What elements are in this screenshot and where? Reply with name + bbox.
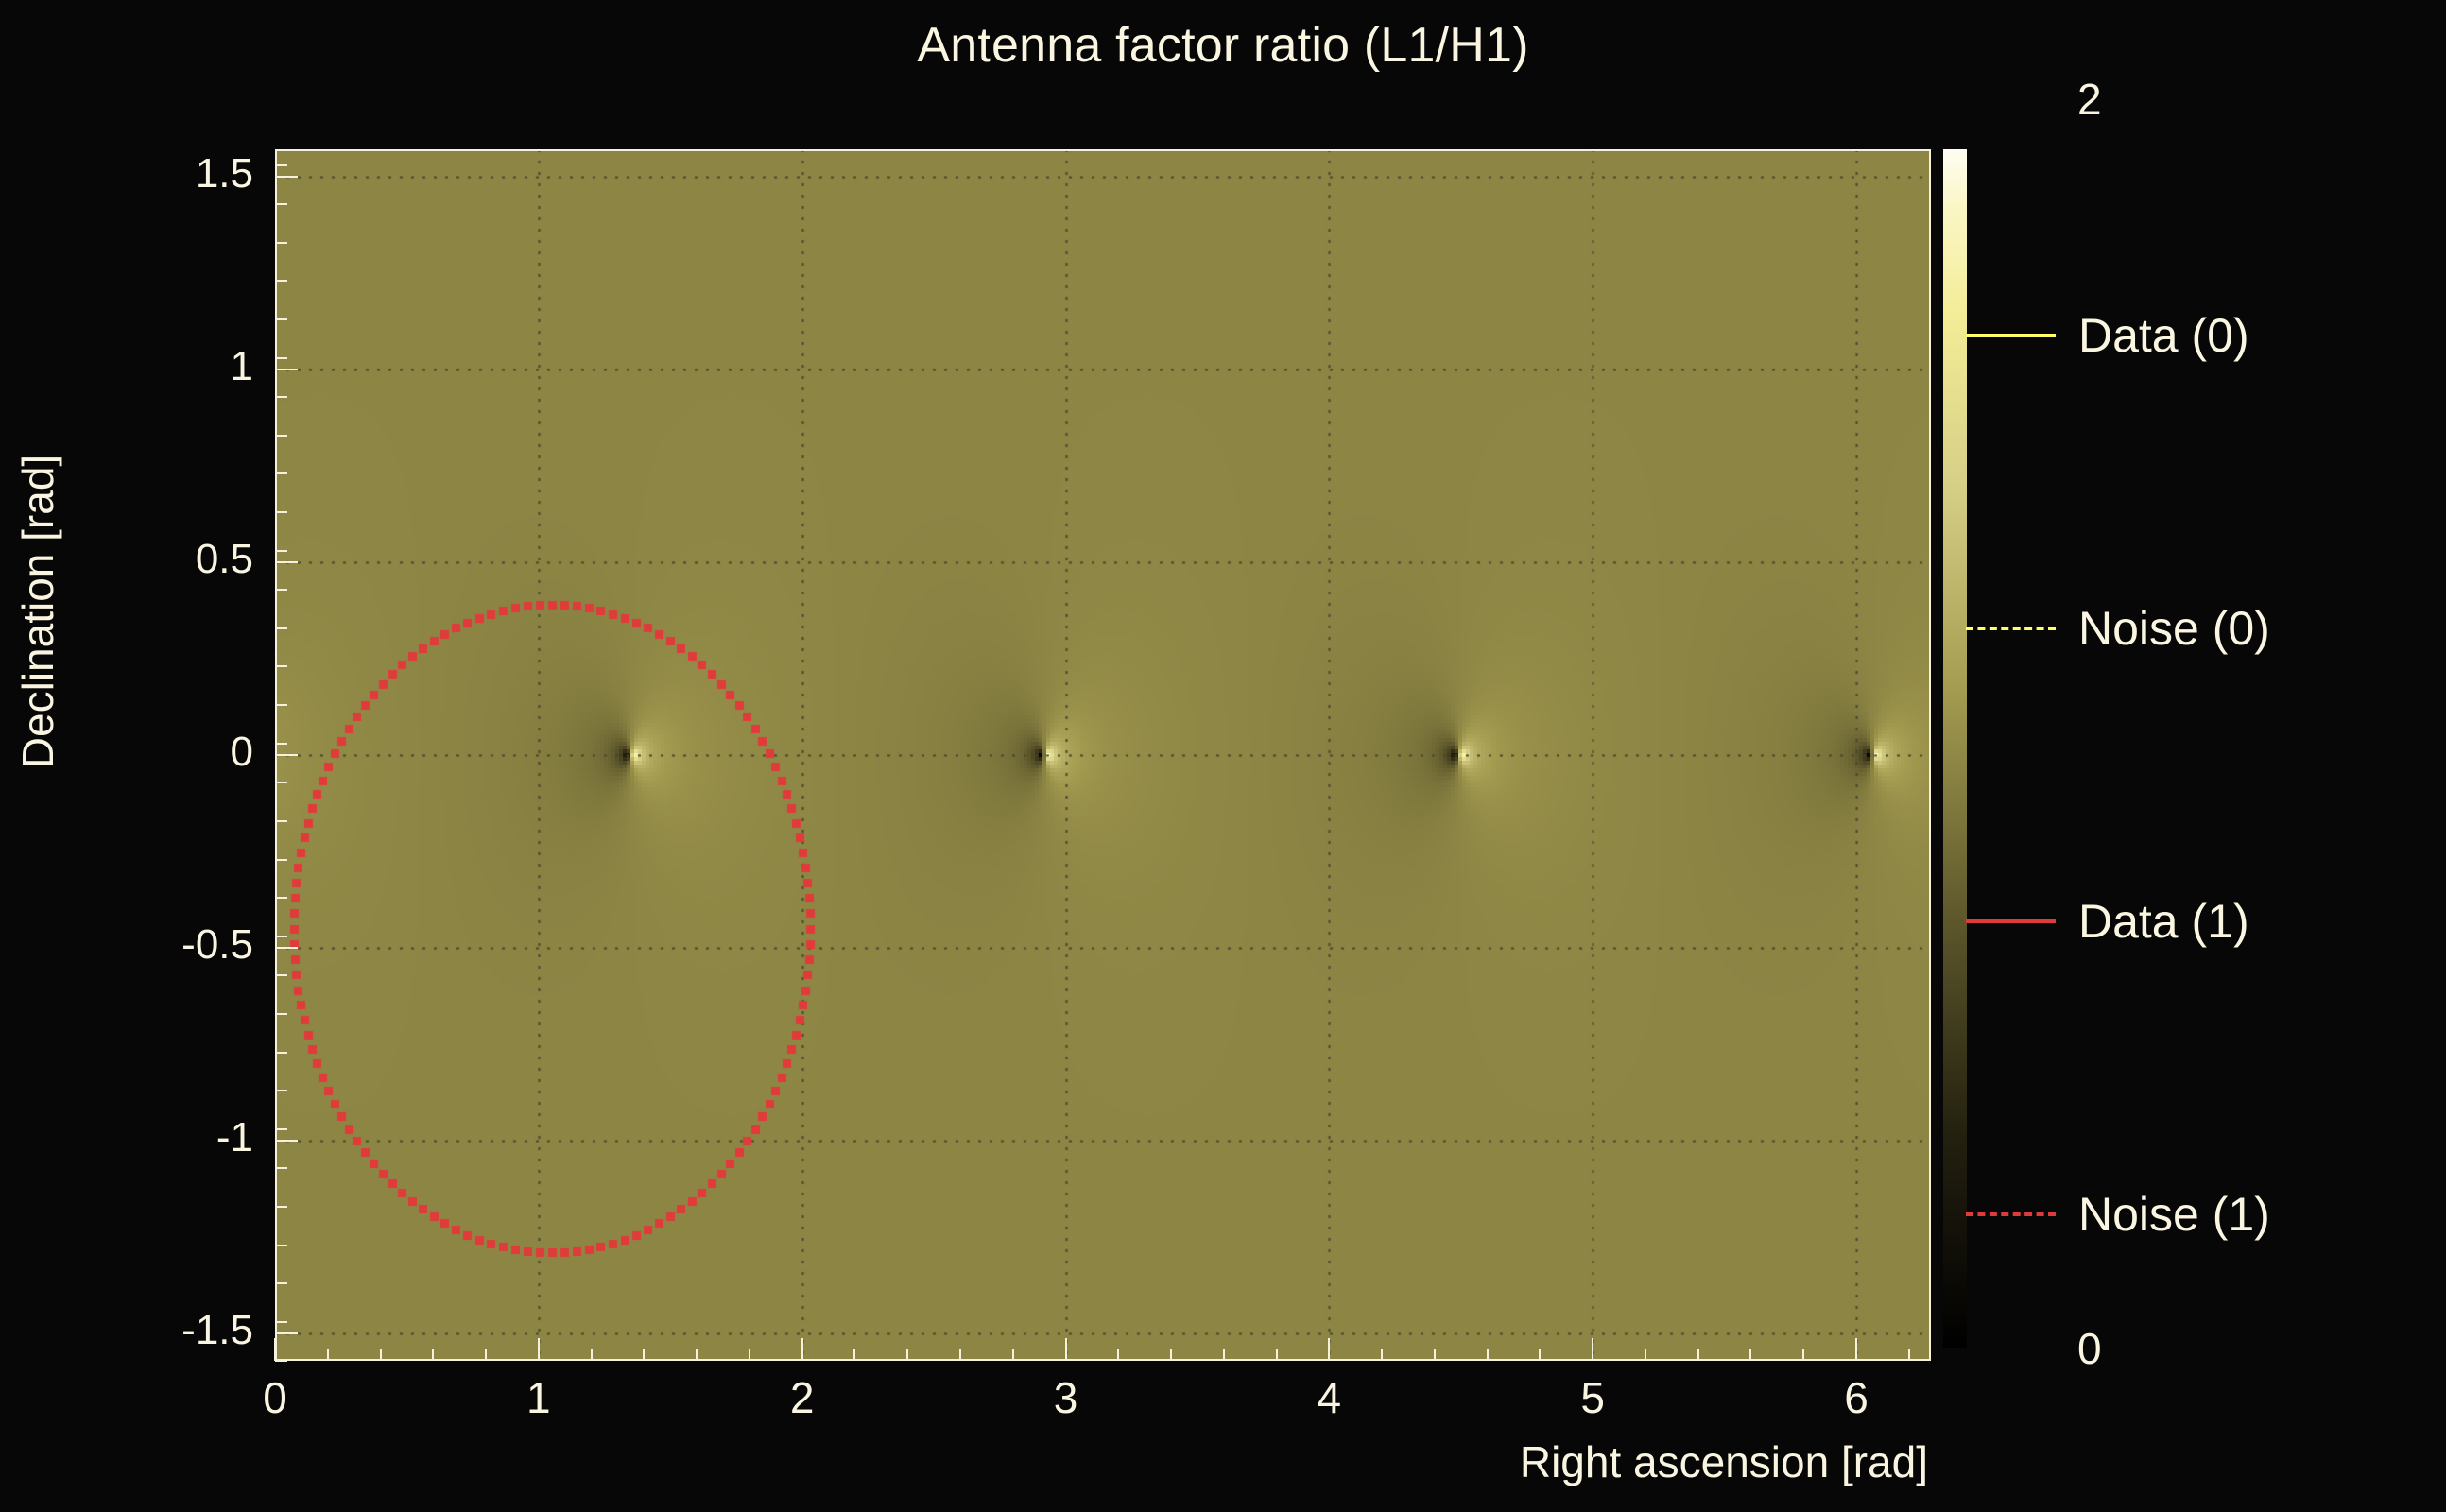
y-tick-minor	[275, 511, 287, 513]
y-tick-minor	[275, 1206, 287, 1208]
y-tick-minor	[275, 820, 287, 822]
y-tick-minor	[275, 164, 287, 166]
y-tick-major	[275, 1332, 298, 1334]
y-tick-label: -1	[0, 1114, 253, 1161]
x-tick-major	[1328, 1338, 1330, 1361]
x-tick-minor	[1276, 1349, 1278, 1361]
x-tick-minor	[749, 1349, 750, 1361]
x-tick-minor	[1908, 1349, 1910, 1361]
y-tick-minor	[275, 550, 287, 552]
legend[interactable]: Data (0)Noise (0)Data (1)Noise (1)	[1966, 161, 2438, 1342]
figure-canvas: Antenna factor ratio (L1/H1) -1.5-1-0.50…	[0, 0, 2446, 1512]
x-tick-minor	[1539, 1349, 1541, 1361]
x-tick-major	[1855, 1338, 1857, 1361]
x-tick-label: 6	[1844, 1372, 1869, 1423]
x-tick-minor	[1434, 1349, 1436, 1361]
y-tick-minor	[275, 589, 287, 591]
plot-area[interactable]	[275, 149, 1931, 1361]
x-tick-major	[1065, 1338, 1067, 1361]
y-tick-major	[275, 754, 298, 756]
x-tick-minor	[1645, 1349, 1646, 1361]
y-tick-minor	[275, 743, 287, 745]
x-tick-label: 5	[1580, 1372, 1605, 1423]
x-tick-major	[538, 1338, 540, 1361]
y-tick-minor	[275, 1013, 287, 1015]
y-tick-minor	[275, 1245, 287, 1246]
y-tick-minor	[275, 782, 287, 783]
legend-item[interactable]: Data (1)	[1966, 879, 2438, 964]
x-tick-minor	[1697, 1349, 1699, 1361]
legend-item[interactable]: Noise (1)	[1966, 1172, 2438, 1257]
x-axis-title: Right ascension [rad]	[1059, 1436, 1928, 1487]
y-tick-minor	[275, 318, 287, 320]
x-tick-minor	[1381, 1349, 1383, 1361]
x-tick-label: 0	[263, 1372, 287, 1423]
y-tick-minor	[275, 665, 287, 667]
y-tick-minor	[275, 1167, 287, 1169]
colorbar-max-label: 2	[2077, 74, 2102, 125]
x-tick-minor	[696, 1349, 698, 1361]
x-tick-minor	[380, 1349, 382, 1361]
x-tick-minor	[1117, 1349, 1119, 1361]
legend-line-swatch	[1966, 627, 2056, 630]
x-tick-major	[801, 1338, 803, 1361]
y-tick-minor	[275, 704, 287, 706]
x-tick-minor	[853, 1349, 855, 1361]
y-tick-label: 1	[0, 343, 253, 390]
y-tick-minor	[275, 1282, 287, 1284]
legend-item-label: Noise (1)	[2078, 1191, 2270, 1238]
x-tick-minor	[485, 1349, 487, 1361]
y-tick-major	[275, 947, 298, 949]
y-tick-minor	[275, 627, 287, 629]
x-tick-major	[1592, 1338, 1593, 1361]
y-tick-minor	[275, 242, 287, 244]
y-tick-minor	[275, 396, 287, 398]
x-tick-label: 4	[1318, 1372, 1342, 1423]
x-tick-minor	[432, 1349, 434, 1361]
x-tick-major	[274, 1338, 276, 1361]
x-tick-minor	[1170, 1349, 1172, 1361]
y-tick-minor	[275, 203, 287, 205]
legend-line-swatch	[1966, 334, 2056, 337]
y-tick-label: 1.5	[0, 150, 253, 198]
y-tick-minor	[275, 472, 287, 474]
x-tick-minor	[591, 1349, 593, 1361]
x-tick-minor	[327, 1349, 329, 1361]
legend-item[interactable]: Noise (0)	[1966, 586, 2438, 671]
y-tick-minor	[275, 280, 287, 282]
y-tick-minor	[275, 1128, 287, 1130]
x-tick-label: 3	[1054, 1372, 1078, 1423]
y-tick-major	[275, 176, 298, 178]
x-tick-minor	[906, 1349, 908, 1361]
x-tick-minor	[1802, 1349, 1804, 1361]
y-tick-major	[275, 369, 298, 370]
y-tick-minor	[275, 1321, 287, 1323]
y-tick-minor	[275, 1090, 287, 1091]
legend-item[interactable]: Data (0)	[1966, 293, 2438, 378]
x-tick-minor	[1223, 1349, 1225, 1361]
x-tick-label: 2	[790, 1372, 815, 1423]
y-tick-major	[275, 1140, 298, 1142]
y-tick-minor	[275, 435, 287, 437]
x-tick-label: 1	[526, 1372, 551, 1423]
legend-line-swatch	[1966, 919, 2056, 923]
x-tick-minor	[643, 1349, 645, 1361]
page-title: Antenna factor ratio (L1/H1)	[0, 17, 2446, 74]
legend-item-label: Data (1)	[2078, 898, 2249, 945]
x-tick-minor	[1749, 1349, 1751, 1361]
y-tick-minor	[275, 1052, 287, 1054]
y-tick-minor	[275, 936, 287, 937]
y-tick-label: -0.5	[0, 921, 253, 969]
y-tick-minor	[275, 859, 287, 861]
x-tick-minor	[1012, 1349, 1014, 1361]
legend-item-label: Noise (0)	[2078, 605, 2270, 652]
y-tick-minor	[275, 897, 287, 899]
y-axis-title: Declination [rad]	[12, 413, 63, 810]
y-tick-minor	[275, 357, 287, 359]
sky-localisation-contour	[275, 149, 1931, 1361]
y-tick-minor	[275, 1360, 287, 1362]
x-tick-minor	[1487, 1349, 1489, 1361]
y-tick-minor	[275, 974, 287, 976]
colorbar[interactable]	[1943, 149, 1967, 1348]
y-tick-label: -1.5	[0, 1307, 253, 1354]
y-tick-major	[275, 561, 298, 563]
x-tick-minor	[959, 1349, 961, 1361]
legend-line-swatch	[1966, 1212, 2056, 1216]
legend-item-label: Data (0)	[2078, 312, 2249, 359]
